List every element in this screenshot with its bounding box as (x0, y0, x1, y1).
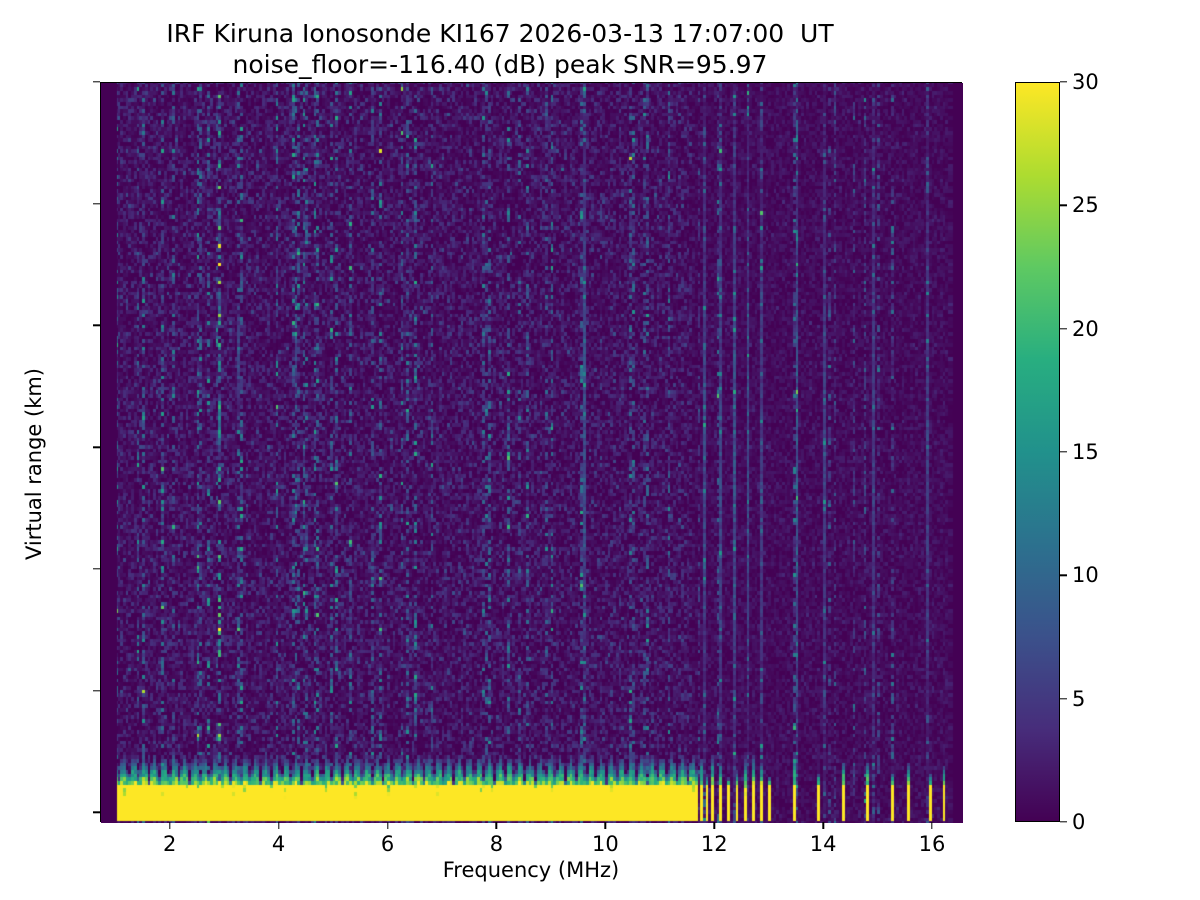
x-tick-mark (714, 822, 715, 829)
colorbar-tick-label: 0 (1072, 810, 1085, 834)
x-tick-mark (278, 822, 279, 829)
y-tick-mark (93, 690, 100, 691)
colorbar-tick-mark (1060, 451, 1067, 452)
colorbar-tick-label: 15 (1072, 440, 1099, 464)
x-tick-mark (931, 822, 932, 829)
x-axis-label: Frequency (MHz) (100, 858, 962, 882)
x-tick-label: 16 (919, 832, 946, 856)
colorbar (1015, 82, 1060, 822)
colorbar-tick-mark (1060, 698, 1067, 699)
x-tick-mark (387, 822, 388, 829)
x-tick-label: 2 (163, 832, 176, 856)
colorbar-tick-mark (1060, 81, 1067, 82)
y-tick-mark (93, 325, 100, 326)
figure-title: IRF Kiruna Ionosonde KI167 2026-03-13 17… (0, 18, 1000, 80)
colorbar-tick-mark (1060, 328, 1067, 329)
plot-area (100, 82, 962, 822)
x-tick-label: 10 (592, 832, 619, 856)
colorbar-tick-mark (1060, 575, 1067, 576)
x-tick-mark (496, 822, 497, 829)
colorbar-gradient (1016, 83, 1059, 821)
title-line-2: noise_floor=-116.40 (dB) peak SNR=95.97 (0, 49, 1000, 80)
title-line-1: IRF Kiruna Ionosonde KI167 2026-03-13 17… (0, 18, 1000, 49)
x-tick-label: 14 (810, 832, 837, 856)
colorbar-tick-label: 20 (1072, 317, 1099, 341)
y-axis-label: Virtual range (km) (22, 334, 46, 594)
colorbar-tick-mark (1060, 205, 1067, 206)
y-tick-mark (93, 81, 100, 82)
colorbar-tick-label: 25 (1072, 193, 1099, 217)
x-tick-mark (605, 822, 606, 829)
ionogram-figure: IRF Kiruna Ionosonde KI167 2026-03-13 17… (0, 0, 1200, 900)
x-tick-label: 8 (490, 832, 503, 856)
y-tick-mark (93, 812, 100, 813)
x-tick-label: 12 (701, 832, 728, 856)
colorbar-tick-mark (1060, 821, 1067, 822)
x-tick-mark (822, 822, 823, 829)
x-tick-label: 6 (381, 832, 394, 856)
colorbar-tick-label: 10 (1072, 563, 1099, 587)
x-tick-mark (169, 822, 170, 829)
y-tick-mark (93, 446, 100, 447)
colorbar-tick-label: 5 (1072, 687, 1085, 711)
y-tick-mark (93, 203, 100, 204)
ionogram-heatmap (101, 83, 963, 823)
y-tick-mark (93, 568, 100, 569)
x-tick-label: 4 (272, 832, 285, 856)
colorbar-tick-label: 30 (1072, 70, 1099, 94)
